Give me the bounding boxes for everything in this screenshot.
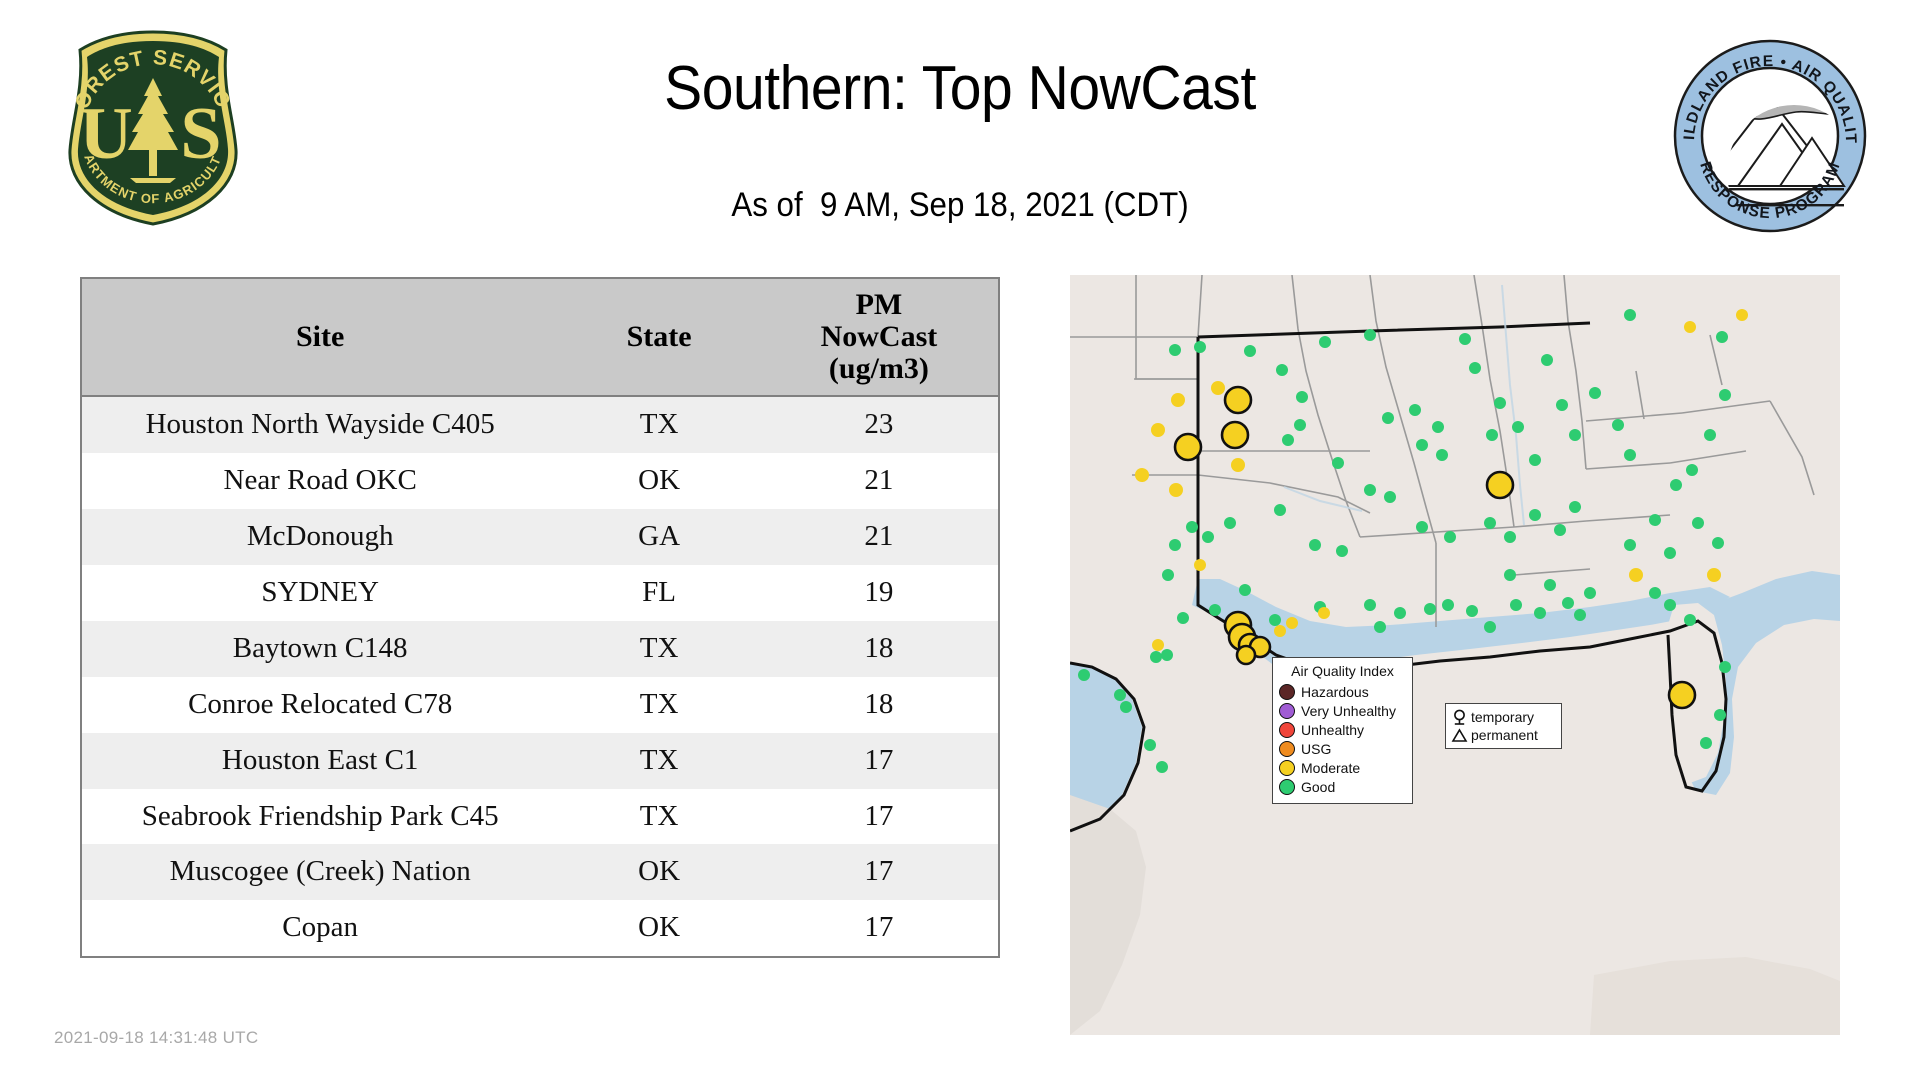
aqi-legend-label: Unhealthy xyxy=(1301,723,1364,737)
column-header-site: Site xyxy=(82,279,558,396)
air-quality-index-legend: Air Quality Index HazardousVery Unhealth… xyxy=(1272,657,1413,804)
monitor-dot[interactable] xyxy=(1736,309,1748,321)
site-cell: Conroe Relocated C78 xyxy=(82,677,558,733)
aqi-swatch-icon xyxy=(1279,741,1295,757)
table-row[interactable]: Seabrook Friendship Park C45TX17 xyxy=(82,789,998,845)
monitor-dot[interactable] xyxy=(1714,709,1726,721)
table-row[interactable]: SYDNEYFL19 xyxy=(82,565,998,621)
monitor-dot[interactable] xyxy=(1336,545,1348,557)
monitor-dot[interactable] xyxy=(1186,521,1198,533)
aqi-legend-row-hazardous: Hazardous xyxy=(1279,682,1406,701)
monitor-dot[interactable] xyxy=(1225,387,1251,413)
monitor-dot[interactable] xyxy=(1296,391,1308,403)
aqi-legend-label: Moderate xyxy=(1301,761,1360,775)
monitor-dot[interactable] xyxy=(1494,397,1506,409)
aqi-legend-row-unhealthy: Unhealthy xyxy=(1279,720,1406,739)
page-subtitle: As of 9 AM, Sep 18, 2021 (CDT) xyxy=(77,188,1843,222)
site-cell: Houston North Wayside C405 xyxy=(82,396,558,453)
site-cell: Copan xyxy=(82,900,558,956)
legend-label-permanent: permanent xyxy=(1471,728,1538,742)
top-nowcast-table: Site State PM NowCast (ug/m3) Houston No… xyxy=(80,277,1000,958)
monitor-dot[interactable] xyxy=(1274,504,1286,516)
table-row[interactable]: Houston North Wayside C405TX23 xyxy=(82,396,998,453)
monitor-dot[interactable] xyxy=(1574,609,1586,621)
southern-region-aqi-map[interactable]: Air Quality Index HazardousVery Unhealth… xyxy=(1070,275,1840,1035)
monitor-dot[interactable] xyxy=(1319,336,1331,348)
monitor-dot[interactable] xyxy=(1416,439,1428,451)
monitor-dot[interactable] xyxy=(1442,599,1454,611)
monitor-dot[interactable] xyxy=(1416,521,1428,533)
monitor-dot[interactable] xyxy=(1171,393,1185,407)
table-row[interactable]: Houston East C1TX17 xyxy=(82,733,998,789)
table-row[interactable]: Baytown C148TX18 xyxy=(82,621,998,677)
monitor-dot[interactable] xyxy=(1629,568,1643,582)
monitor-dot[interactable] xyxy=(1684,614,1696,626)
aqi-legend-row-good: Good xyxy=(1279,777,1406,796)
legend-row-temporary: temporary xyxy=(1451,708,1556,726)
monitor-dot[interactable] xyxy=(1144,739,1156,751)
monitor-dot[interactable] xyxy=(1294,419,1306,431)
monitor-dot[interactable] xyxy=(1318,607,1330,619)
monitor-dot[interactable] xyxy=(1444,531,1456,543)
monitor-dot[interactable] xyxy=(1664,599,1676,611)
monitor-dot[interactable] xyxy=(1309,539,1321,551)
column-header-pm-nowcast: PM NowCast (ug/m3) xyxy=(760,279,998,396)
legend-row-permanent: permanent xyxy=(1451,726,1556,744)
state-cell: TX xyxy=(558,677,760,733)
monitor-dot[interactable] xyxy=(1114,689,1126,701)
monitor-dot[interactable] xyxy=(1231,458,1245,472)
monitor-dot[interactable] xyxy=(1150,651,1162,663)
monitor-dot[interactable] xyxy=(1364,484,1376,496)
monitor-dot[interactable] xyxy=(1700,737,1712,749)
monitor-dot[interactable] xyxy=(1512,421,1524,433)
monitor-dot[interactable] xyxy=(1409,404,1421,416)
monitor-dot[interactable] xyxy=(1466,605,1478,617)
site-cell: Seabrook Friendship Park C45 xyxy=(82,789,558,845)
pm-nowcast-cell: 23 xyxy=(760,396,998,453)
monitor-dot[interactable] xyxy=(1239,584,1251,596)
pm-nowcast-cell: 18 xyxy=(760,677,998,733)
monitor-dot[interactable] xyxy=(1162,569,1174,581)
monitor-dot[interactable] xyxy=(1161,649,1173,661)
state-cell: FL xyxy=(558,565,760,621)
monitor-dot[interactable] xyxy=(1684,321,1696,333)
permanent-triangle-icon xyxy=(1451,727,1468,744)
monitor-dot[interactable] xyxy=(1510,599,1522,611)
state-cell: TX xyxy=(558,621,760,677)
temporary-circle-icon xyxy=(1451,709,1468,726)
pm-nowcast-cell: 17 xyxy=(760,900,998,956)
pm-nowcast-cell: 17 xyxy=(760,844,998,900)
monitor-dot[interactable] xyxy=(1151,423,1165,437)
aqi-swatch-icon xyxy=(1279,722,1295,738)
monitor-dot[interactable] xyxy=(1224,517,1236,529)
monitor-dot[interactable] xyxy=(1209,604,1221,616)
monitor-dot[interactable] xyxy=(1569,429,1581,441)
pm-nowcast-cell: 17 xyxy=(760,733,998,789)
monitor-dot[interactable] xyxy=(1541,354,1553,366)
monitor-dot[interactable] xyxy=(1544,579,1556,591)
aqi-legend-row-moderate: Moderate xyxy=(1279,758,1406,777)
monitor-dot[interactable] xyxy=(1244,345,1256,357)
aqi-swatch-icon xyxy=(1279,684,1295,700)
monitor-dot[interactable] xyxy=(1624,309,1636,321)
monitor-dot[interactable] xyxy=(1569,501,1581,513)
footer-timestamp: 2021-09-18 14:31:48 UTC xyxy=(54,1028,258,1048)
legend-label-temporary: temporary xyxy=(1471,710,1534,724)
monitor-dot[interactable] xyxy=(1704,429,1716,441)
table-row[interactable]: Conroe Relocated C78TX18 xyxy=(82,677,998,733)
monitor-dot[interactable] xyxy=(1664,547,1676,559)
monitor-dot[interactable] xyxy=(1484,517,1496,529)
monitor-dot[interactable] xyxy=(1202,531,1214,543)
monitor-dot[interactable] xyxy=(1716,331,1728,343)
monitor-dot[interactable] xyxy=(1169,344,1181,356)
state-cell: OK xyxy=(558,844,760,900)
monitor-dot[interactable] xyxy=(1152,639,1164,651)
monitor-dot[interactable] xyxy=(1276,364,1288,376)
site-cell: McDonough xyxy=(82,509,558,565)
monitor-dot[interactable] xyxy=(1177,612,1189,624)
monitor-dot[interactable] xyxy=(1469,362,1481,374)
monitor-dot[interactable] xyxy=(1424,603,1436,615)
monitor-dot[interactable] xyxy=(1222,422,1248,448)
monitor-dot[interactable] xyxy=(1556,399,1568,411)
site-cell: SYDNEY xyxy=(82,565,558,621)
monitor-dot[interactable] xyxy=(1589,387,1601,399)
table-row[interactable]: Muscogee (Creek) NationOK17 xyxy=(82,844,998,900)
monitor-dot[interactable] xyxy=(1382,412,1394,424)
monitor-dot[interactable] xyxy=(1692,517,1704,529)
monitor-dot[interactable] xyxy=(1156,761,1168,773)
monitor-dot[interactable] xyxy=(1504,531,1516,543)
pm-nowcast-cell: 18 xyxy=(760,621,998,677)
pm-nowcast-cell: 21 xyxy=(760,509,998,565)
state-cell: GA xyxy=(558,509,760,565)
monitor-dot[interactable] xyxy=(1432,421,1444,433)
monitor-dot[interactable] xyxy=(1554,524,1566,536)
column-header-state: State xyxy=(558,279,760,396)
monitor-dot[interactable] xyxy=(1686,464,1698,476)
state-cell: OK xyxy=(558,900,760,956)
monitor-dot[interactable] xyxy=(1707,568,1721,582)
aqi-legend-label: Hazardous xyxy=(1301,685,1369,699)
monitor-dot[interactable] xyxy=(1529,509,1541,521)
site-type-legend: temporary permanent xyxy=(1445,703,1562,749)
map-canvas xyxy=(1070,275,1840,1035)
monitor-dot[interactable] xyxy=(1194,559,1206,571)
state-cell: TX xyxy=(558,789,760,845)
monitor-dot[interactable] xyxy=(1436,449,1448,461)
monitor-dot[interactable] xyxy=(1274,625,1286,637)
aqi-legend-label: USG xyxy=(1301,742,1331,756)
monitor-dot[interactable] xyxy=(1394,607,1406,619)
monitor-dot[interactable] xyxy=(1486,429,1498,441)
monitor-dot[interactable] xyxy=(1364,329,1376,341)
monitor-dot[interactable] xyxy=(1237,646,1255,664)
monitor-dot[interactable] xyxy=(1624,539,1636,551)
aqi-legend-row-usg: USG xyxy=(1279,739,1406,758)
table-row[interactable]: McDonoughGA21 xyxy=(82,509,998,565)
monitor-dot[interactable] xyxy=(1078,669,1090,681)
monitor-dot[interactable] xyxy=(1374,621,1386,633)
monitor-dot[interactable] xyxy=(1194,341,1206,353)
page-title: Southern: Top NowCast xyxy=(77,58,1843,120)
monitor-dot[interactable] xyxy=(1484,621,1496,633)
pm-header-line-1: PM xyxy=(760,289,998,321)
state-cell: TX xyxy=(558,396,760,453)
site-cell: Baytown C148 xyxy=(82,621,558,677)
aqi-swatch-icon xyxy=(1279,703,1295,719)
state-cell: OK xyxy=(558,453,760,509)
aqi-legend-label: Very Unhealthy xyxy=(1301,704,1396,718)
pm-header-line-2: NowCast xyxy=(760,321,998,353)
aqi-swatch-icon xyxy=(1279,779,1295,795)
monitor-dot[interactable] xyxy=(1175,434,1201,460)
monitor-dot[interactable] xyxy=(1529,454,1541,466)
monitor-dot[interactable] xyxy=(1286,617,1298,629)
monitor-dot[interactable] xyxy=(1612,419,1624,431)
monitor-dot[interactable] xyxy=(1269,614,1281,626)
aqi-swatch-icon xyxy=(1279,760,1295,776)
monitor-dot[interactable] xyxy=(1624,449,1636,461)
pm-nowcast-cell: 19 xyxy=(760,565,998,621)
monitor-dot[interactable] xyxy=(1169,539,1181,551)
monitor-dot[interactable] xyxy=(1534,607,1546,619)
monitor-dot[interactable] xyxy=(1487,472,1513,498)
monitor-dot[interactable] xyxy=(1169,483,1183,497)
site-cell: Houston East C1 xyxy=(82,733,558,789)
monitor-dot[interactable] xyxy=(1504,569,1516,581)
aqi-legend-label: Good xyxy=(1301,780,1335,794)
monitor-dot[interactable] xyxy=(1332,457,1344,469)
state-cell: TX xyxy=(558,733,760,789)
monitor-dot[interactable] xyxy=(1282,434,1294,446)
monitor-dot[interactable] xyxy=(1135,468,1149,482)
table-row[interactable]: CopanOK17 xyxy=(82,900,998,956)
monitor-dot[interactable] xyxy=(1584,587,1596,599)
monitor-dot[interactable] xyxy=(1712,537,1724,549)
monitor-dot[interactable] xyxy=(1120,701,1132,713)
monitor-dot[interactable] xyxy=(1649,514,1661,526)
pm-nowcast-cell: 17 xyxy=(760,789,998,845)
monitor-dot[interactable] xyxy=(1719,389,1731,401)
aqi-legend-row-very-unhealthy: Very Unhealthy xyxy=(1279,701,1406,720)
table-header-row: Site State PM NowCast (ug/m3) xyxy=(82,279,998,396)
aqi-legend-title: Air Quality Index xyxy=(1279,663,1406,679)
site-cell: Muscogee (Creek) Nation xyxy=(82,844,558,900)
monitor-dot[interactable] xyxy=(1211,381,1225,395)
monitor-dot[interactable] xyxy=(1719,661,1731,673)
monitor-dot[interactable] xyxy=(1364,599,1376,611)
table-row[interactable]: Near Road OKCOK21 xyxy=(82,453,998,509)
monitor-dot[interactable] xyxy=(1459,333,1471,345)
monitor-dot[interactable] xyxy=(1562,597,1574,609)
monitor-dot[interactable] xyxy=(1670,479,1682,491)
site-cell: Near Road OKC xyxy=(82,453,558,509)
monitor-dot[interactable] xyxy=(1384,491,1396,503)
pm-nowcast-cell: 21 xyxy=(760,453,998,509)
monitor-dot[interactable] xyxy=(1669,682,1695,708)
pm-header-line-3: (ug/m3) xyxy=(760,353,998,385)
monitor-dot[interactable] xyxy=(1649,587,1661,599)
